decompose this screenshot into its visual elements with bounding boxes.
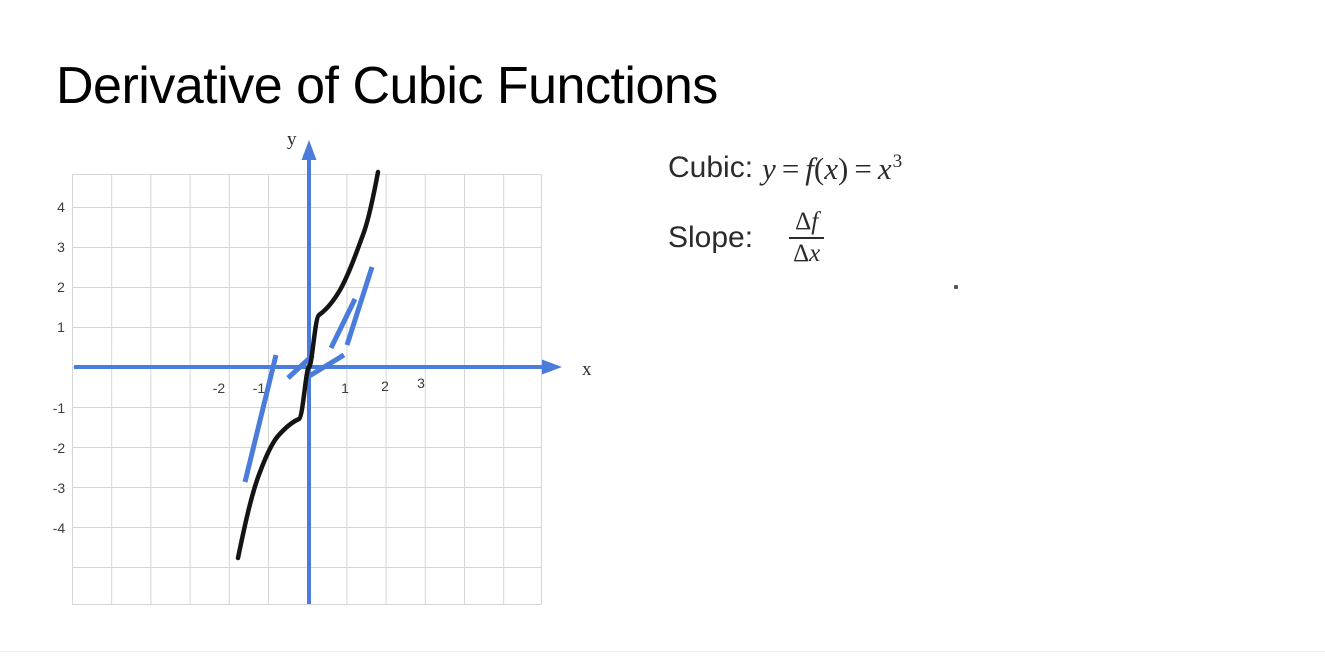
graph-svg: y x -2 -1 1 2 3 4 3 2 1 -1 -2 -3 -4	[0, 110, 640, 630]
cubic-f: f	[805, 151, 814, 186]
slope-numerator: Δf	[789, 208, 824, 236]
cubic-x-base: x	[878, 151, 892, 186]
y-tick-label: -3	[53, 480, 66, 496]
page-title: Derivative of Cubic Functions	[56, 57, 718, 117]
slope-denominator: Δx	[789, 240, 824, 268]
y-tick-label: 4	[57, 199, 65, 215]
cubic-equals-2: =	[854, 151, 871, 186]
cubic-x-arg: x	[824, 151, 838, 186]
x-tick-label: 3	[417, 375, 425, 391]
x-axis-label: x	[582, 359, 592, 380]
cubic-function-graph: y x -2 -1 1 2 3 4 3 2 1 -1 -2 -3 -4	[0, 110, 640, 630]
cubic-exponent: 3	[893, 151, 903, 172]
cubic-equals-1: =	[782, 151, 799, 186]
y-tick-label: -2	[53, 440, 66, 456]
slope-equation-row: Slope: Δf Δx	[668, 208, 1188, 268]
equation-panel: Cubic: y=f(x)=x3 Slope: Δf Δx	[668, 142, 1188, 268]
y-tick-label: 2	[57, 279, 65, 295]
cubic-y: y	[762, 151, 776, 186]
bottom-divider	[0, 651, 1325, 652]
y-tick-label: 3	[57, 239, 65, 255]
cubic-expression: y=f(x)=x3	[762, 153, 902, 184]
x-tick-label: -1	[253, 380, 266, 396]
slope-denominator-variable: x	[809, 240, 820, 267]
y-tick-label: -1	[53, 400, 66, 416]
x-tick-label: -2	[213, 380, 226, 396]
slope-label: Slope:	[668, 221, 753, 255]
slope-fraction: Δf Δx	[789, 208, 824, 268]
cubic-label: Cubic:	[668, 151, 753, 185]
delta-symbol-numerator: Δ	[795, 208, 811, 235]
tangent-segment	[245, 355, 276, 482]
x-tick-label: 1	[341, 380, 349, 396]
cubic-equation-row: Cubic: y=f(x)=x3	[668, 142, 1188, 194]
y-axis-label: y	[287, 129, 297, 150]
delta-symbol-denominator: Δ	[793, 240, 809, 267]
slide-canvas: Derivative of Cubic Functions	[0, 0, 1325, 659]
x-tick-label: 2	[381, 378, 389, 394]
slope-numerator-variable: f	[811, 208, 818, 235]
cubic-close-paren: )	[838, 151, 848, 186]
cubic-open-paren: (	[814, 151, 824, 186]
fraction-bar	[789, 237, 824, 239]
y-tick-labels: 4 3 2 1 -1 -2 -3 -4	[53, 199, 66, 536]
stray-dot-mark	[954, 285, 958, 289]
y-tick-label: -4	[53, 520, 66, 536]
y-tick-label: 1	[57, 319, 65, 335]
x-tick-labels: -2 -1 1 2 3	[213, 375, 425, 396]
